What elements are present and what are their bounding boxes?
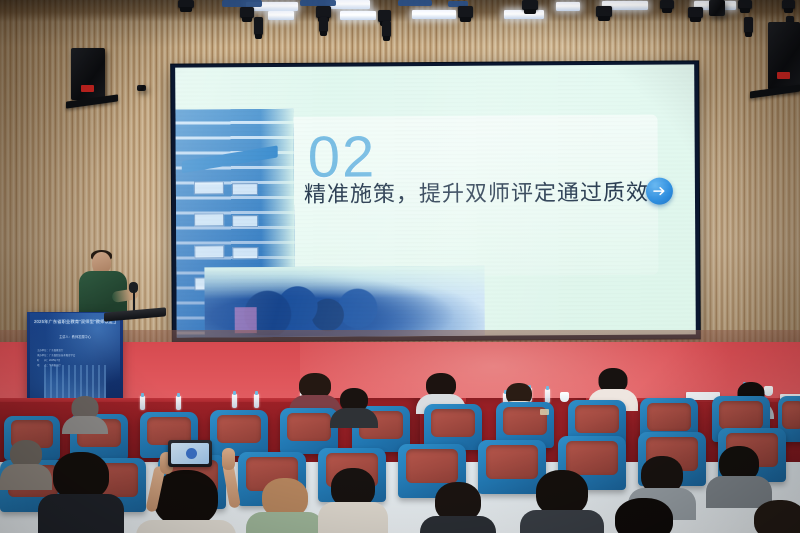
podium-banner-line-1: 承办单位：广东省职业技术教育学会	[37, 354, 113, 359]
podium-banner-line-0: 主办单位：广东省教育厅	[37, 349, 113, 354]
campus-photo-bottom-band	[204, 266, 484, 338]
podium-banner: 2025年广东省职业教育"双师型"教师认定工作培训班 主讲人：教师发展中心 主办…	[30, 313, 120, 401]
slide-section-number: 02	[308, 128, 377, 186]
led-screen-bezel: 02 精准施策，提升双师评定通过质效	[171, 61, 700, 341]
audience-person	[740, 500, 800, 533]
tree-foliage	[240, 282, 390, 335]
audience-person	[330, 388, 378, 424]
podium-banner-graphic	[44, 365, 106, 399]
ceiling-speaker-small	[709, 0, 725, 16]
wall-speaker-right	[768, 22, 800, 90]
slide-headline: 精准施策，提升双师评定通过质效	[304, 181, 644, 208]
audience-person	[62, 396, 108, 430]
building-roof	[182, 145, 278, 173]
audience-person	[520, 470, 604, 533]
auditorium-seat[interactable]	[210, 410, 268, 456]
audience-person	[246, 478, 324, 533]
audience-person	[38, 452, 124, 533]
audience-person	[318, 468, 388, 533]
conference-hall-photo: 02 精准施策，提升双师评定通过质效 2025年广东省职业教育"双师型"教师认定…	[0, 0, 800, 533]
wall-speaker-left	[71, 48, 105, 100]
speaker-brand-badge-right	[777, 72, 790, 79]
podium-banner-line-2: 时 间：2025年7月	[37, 359, 113, 364]
presentation-slide: 02 精准施策，提升双师评定通过质效	[175, 64, 696, 337]
audience-person	[706, 446, 772, 504]
smartphone-camera[interactable]	[168, 440, 212, 467]
audience-person	[596, 498, 692, 533]
photographer-hand-right	[222, 448, 235, 470]
audience-person	[420, 482, 496, 533]
speaker-brand-badge	[81, 85, 94, 92]
arrow-right-icon	[646, 178, 673, 205]
podium-banner-subtitle: 主讲人：教师发展中心	[34, 335, 116, 340]
wall-bracket-arm-left	[137, 85, 146, 91]
